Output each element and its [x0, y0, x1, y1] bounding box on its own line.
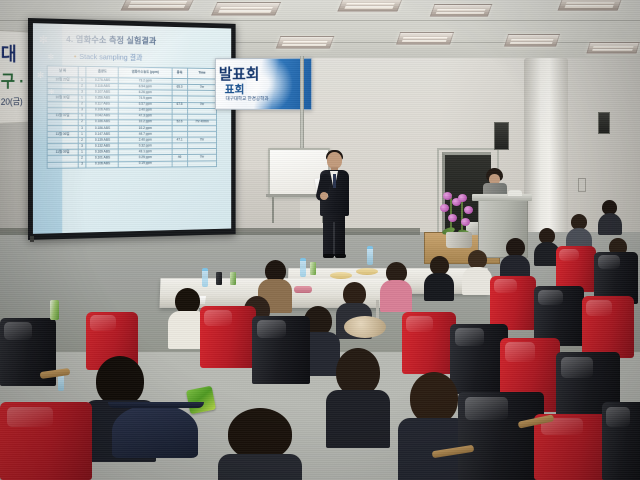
slide-bullet-text: Stack sampling 결과	[79, 52, 142, 62]
seat-highlight	[598, 255, 620, 269]
beverage-can	[216, 272, 222, 285]
light-tube	[220, 7, 273, 10]
bullet-marker-icon: •	[74, 52, 77, 61]
col-header-time: Time	[187, 68, 216, 79]
seat-highlight	[455, 328, 484, 346]
banner-organization-text: 대구대학교 한경공학과	[226, 96, 269, 102]
water-bottle	[202, 268, 208, 287]
whiteboard-leg	[272, 197, 274, 223]
lectern-lamp	[508, 190, 522, 196]
seat-highlight	[559, 249, 579, 261]
auditorium-seat[interactable]	[200, 306, 256, 368]
audience-shoulders	[424, 273, 454, 301]
light-tube	[511, 39, 554, 41]
light-tube	[565, 2, 615, 5]
auditorium-seat[interactable]	[252, 316, 310, 384]
ceiling-light-panel	[430, 4, 493, 17]
left-banner-line2: 구 ·	[1, 67, 24, 92]
light-tube	[592, 49, 633, 51]
projection-screen: ✻ ✻ ✻ ✻ 4. 염화수소 측정 실험결과 •Stack sampling …	[28, 18, 236, 240]
presenter-hand	[320, 192, 328, 200]
audience-member	[566, 214, 592, 250]
seat-highlight	[538, 290, 563, 306]
seat-highlight	[204, 310, 232, 326]
audience-member-with-cap	[108, 400, 204, 480]
presenter	[314, 152, 354, 260]
table-cell: 3	[78, 162, 86, 168]
slide-bullet: •Stack sampling 결과	[74, 51, 143, 63]
slide-title: 4. 염화수소 측정 실험결과	[66, 33, 156, 47]
light-tube	[282, 44, 327, 46]
audience-shoulders	[598, 213, 622, 235]
ceiling-light-panel	[504, 34, 560, 47]
audience-head	[336, 348, 380, 396]
audience-shoulders	[218, 454, 302, 480]
orchid-pot	[446, 232, 472, 248]
beverage-can	[310, 262, 316, 275]
audience-member	[218, 408, 302, 480]
screen-stand	[30, 236, 34, 242]
col-header-date: 날 짜	[47, 66, 78, 78]
seat-highlight	[586, 300, 612, 316]
light-switch[interactable]	[578, 178, 586, 192]
light-tube	[130, 1, 187, 4]
light-tube	[402, 40, 446, 42]
slide-data-table: 날 짜 흡광도 염화수소농도 (ppm) 유속 Time 10월 29일10.2…	[47, 65, 217, 168]
table-cell: 0.19 ppm	[119, 161, 172, 167]
auditorium-seat[interactable]	[602, 402, 640, 480]
baseball-cap	[112, 404, 198, 458]
snowflake-icon: ✻	[39, 35, 48, 46]
orchid-flower	[461, 218, 470, 226]
snack-plate	[356, 268, 378, 275]
presenter-leg-split	[333, 222, 335, 254]
beverage-can	[50, 300, 59, 320]
audience-shoulders	[380, 280, 412, 312]
orchid-flower	[464, 206, 473, 214]
auditorium-seat[interactable]	[490, 276, 536, 330]
audience-shoulders	[326, 390, 390, 448]
event-banner: 발표회 표회 대구대학교 한경공학과	[215, 58, 312, 111]
col-header-absorbance: 흡광도	[86, 66, 118, 77]
seat-highlight	[257, 320, 286, 338]
light-tube	[345, 3, 395, 6]
beverage-can	[230, 272, 236, 285]
water-bottle	[300, 258, 306, 277]
auditorium-seat[interactable]	[0, 402, 92, 480]
seat-highlight	[505, 342, 535, 361]
audience-member	[462, 250, 492, 294]
banner-sub-text: 표회	[225, 81, 245, 97]
orchid-plant	[434, 188, 484, 250]
orchid-flower	[443, 192, 452, 200]
snack-plate	[330, 272, 352, 279]
cap-brim	[108, 402, 204, 408]
presenter-tie	[333, 174, 336, 188]
ceiling-light-panel	[557, 0, 622, 11]
seat-highlight	[561, 357, 593, 378]
table-cell: 0.106 ABS	[86, 161, 118, 167]
snowflake-icon: ✻	[37, 71, 44, 80]
table-row: 30.106 ABS0.19 ppm	[47, 160, 216, 167]
wall-speaker-icon	[494, 122, 509, 150]
seat-highlight	[494, 279, 517, 293]
light-tube	[436, 12, 484, 14]
left-banner-line3: 20(금)	[1, 95, 23, 108]
lecture-hall-photo: 대 구 · 20(금) ✻ ✻ ✻ ✻ 4. 염화수소 측정 실험결과 •Sta…	[0, 0, 640, 480]
snowflake-icon: ✻	[48, 53, 55, 61]
ceiling-light-panel	[120, 0, 195, 11]
light-tube	[593, 46, 634, 48]
orchid-flower	[440, 204, 449, 212]
seat-highlight	[465, 397, 508, 420]
table-cell	[172, 161, 188, 167]
wall-speaker-icon	[598, 112, 610, 134]
seat-highlight	[7, 407, 53, 427]
left-banner-line1: 대	[1, 39, 17, 66]
seat-highlight	[90, 315, 116, 330]
table-cell	[187, 160, 216, 166]
fur-hood-collar	[344, 316, 386, 338]
ceiling-light-panel	[276, 36, 335, 49]
ceiling-light-panel	[396, 32, 454, 45]
audience-member	[424, 256, 454, 300]
audience-member	[598, 200, 622, 234]
orchid-flower	[448, 214, 457, 222]
light-tube	[283, 41, 328, 43]
seat-highlight	[4, 322, 32, 340]
light-tube	[344, 6, 394, 9]
light-tube	[218, 10, 271, 13]
audience-shoulders	[462, 267, 492, 295]
orchid-flower	[458, 194, 467, 202]
auditorium-seat[interactable]	[402, 312, 456, 374]
auditorium-seat[interactable]	[458, 392, 544, 480]
light-tube	[437, 9, 485, 11]
col-header-flow: 유속	[172, 68, 188, 79]
audience-head	[410, 372, 458, 424]
audience-head	[96, 356, 144, 406]
presenter-shoe	[335, 254, 346, 258]
seat-highlight	[606, 407, 630, 427]
col-header-concentration: 염화수소농도 (ppm)	[119, 67, 172, 79]
ceiling-light-panel	[337, 0, 403, 12]
ceiling-light-panel	[586, 42, 639, 54]
audience-member	[380, 262, 412, 310]
auditorium-seat[interactable]	[582, 296, 634, 358]
light-tube	[128, 5, 185, 8]
light-tube	[403, 37, 447, 39]
slide-surface: ✻ ✻ ✻ ✻ 4. 염화수소 측정 실험결과 •Stack sampling …	[33, 23, 231, 235]
col-header-no	[78, 66, 86, 77]
auditorium-seat[interactable]	[534, 286, 584, 346]
snack-item	[294, 286, 312, 293]
banner-support-rod	[300, 56, 304, 156]
audience-member	[326, 348, 390, 444]
presenter-shoe	[323, 254, 334, 258]
light-tube	[510, 42, 553, 44]
seat-highlight	[406, 316, 433, 332]
water-bottle	[367, 246, 373, 265]
ceiling-light-panel	[211, 2, 281, 16]
table-cell	[47, 162, 78, 168]
light-tube	[564, 5, 614, 8]
audience-head	[228, 408, 292, 460]
